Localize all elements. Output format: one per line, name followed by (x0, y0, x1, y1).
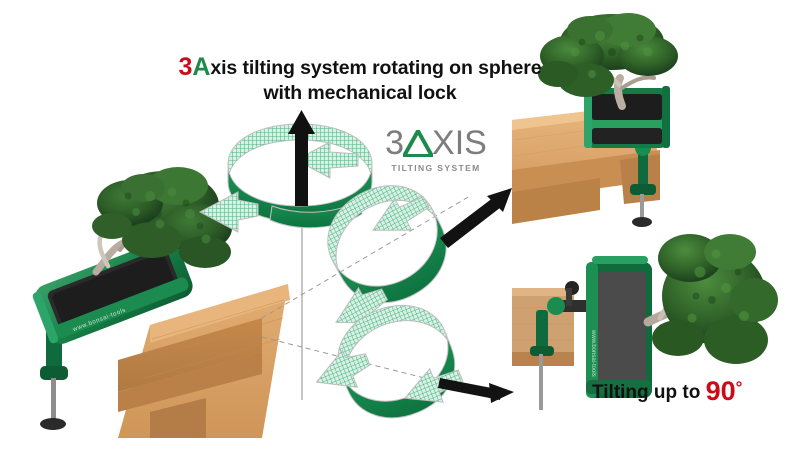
pointer-to-top-right-photo (440, 188, 512, 248)
left-table (118, 284, 290, 438)
vertical-arrow (288, 110, 315, 206)
logo-subtitle: TILTING SYSTEM (374, 163, 498, 173)
left-bonsai (92, 167, 232, 272)
tilt-caption-prefix: Tilting up to (592, 382, 700, 403)
svg-text:www.bonsai-tools: www.bonsai-tools (590, 329, 596, 377)
triangle-a-icon (403, 130, 433, 157)
topright-tray (584, 86, 670, 148)
logo-suffix: XIS (432, 126, 487, 160)
bottomright-bonsai (648, 234, 778, 364)
title-line2: with mechanical lock (150, 81, 570, 106)
bottomright-table (512, 288, 574, 366)
ring-middle (288, 168, 467, 341)
left-tray: www.bonsai-tools (30, 235, 196, 348)
logo-wordmark: 3 XIS (374, 126, 498, 160)
diagram-canvas: www.bonsai-tools (0, 0, 793, 460)
degree-symbol-icon: ° (736, 378, 743, 397)
brand-logo: 3 XIS TILTING SYSTEM (374, 126, 498, 178)
title-letter-a: A (192, 53, 210, 81)
diagonal-axis-lower (262, 337, 480, 392)
title-line1-rest: xis tilting system rotating on sphere (210, 57, 541, 79)
tilt-caption-degrees: 90 (706, 376, 736, 406)
svg-text:www.bonsai-tools: www.bonsai-tools (71, 307, 127, 333)
topright-table (512, 104, 660, 224)
pointer-to-bottom-right-photo (438, 378, 514, 403)
ring-top (200, 124, 372, 232)
tilt-caption: Tilting up to 90° (592, 376, 742, 407)
bottomright-clamp (530, 281, 592, 410)
left-clamp (40, 293, 99, 430)
ring-bottom (300, 290, 469, 444)
page-title: 3Axis tilting system rotating on sphere … (150, 56, 570, 106)
logo-prefix: 3 (385, 126, 404, 160)
topright-clamp (630, 140, 656, 227)
diagonal-axis-upper (262, 196, 470, 318)
title-number: 3 (179, 53, 193, 81)
